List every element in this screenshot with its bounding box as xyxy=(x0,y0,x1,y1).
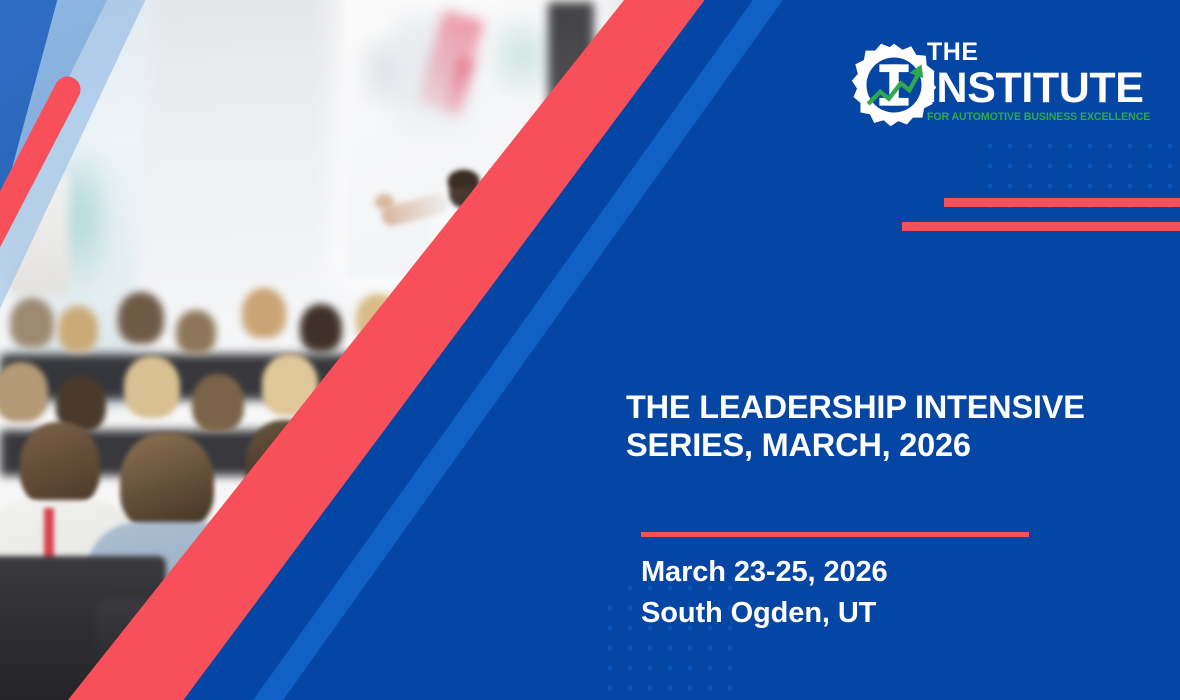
event-location: South Ogden, UT xyxy=(641,593,888,634)
event-dates: March 23-25, 2026 xyxy=(641,552,888,593)
slide-shape-green xyxy=(492,20,552,90)
red-bar-top xyxy=(944,198,1180,207)
event-headline: THE LEADERSHIP INTENSIVE SERIES, MARCH, … xyxy=(626,388,1168,465)
red-bar-bottom xyxy=(902,222,1180,231)
logo-institute-text: INSTITUTE xyxy=(925,67,1143,109)
logo-tagline: FOR AUTOMOTIVE BUSINESS EXCELLENCE xyxy=(927,112,1143,123)
event-promo-banner: THE INSTITUTE FOR AUTOMOTIVE BUSINESS EX… xyxy=(0,0,1180,700)
event-details: March 23-25, 2026 South Ogden, UT xyxy=(641,552,888,634)
speaker-hand-left xyxy=(375,194,394,210)
logo-wordmark: THE INSTITUTE FOR AUTOMOTIVE BUSINESS EX… xyxy=(925,40,1143,123)
logo-the-text: THE xyxy=(927,40,1143,65)
red-divider-rule xyxy=(641,532,1029,537)
speaker-hair xyxy=(448,170,479,189)
institute-logo[interactable]: THE INSTITUTE FOR AUTOMOTIVE BUSINESS EX… xyxy=(851,38,1143,136)
